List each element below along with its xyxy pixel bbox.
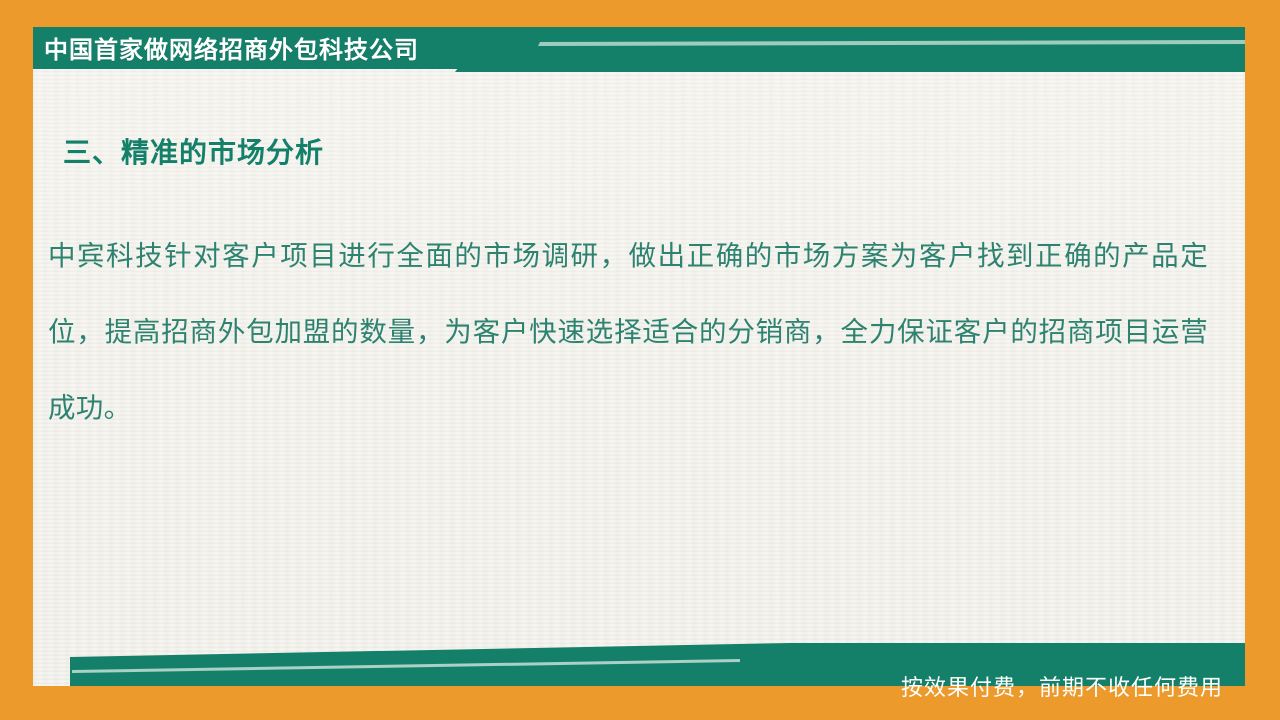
slide-content: 三、精准的市场分析 中宾科技针对客户项目进行全面的市场调研，做出正确的市场方案为… bbox=[33, 33, 1245, 686]
page-title: 三、精准的市场分析 bbox=[63, 131, 324, 171]
header-title: 中国首家做网络招商外包科技公司 bbox=[44, 30, 419, 65]
footer-slogan: 按效果付费，前期不收任何费用 bbox=[901, 670, 1223, 702]
slide-canvas: 三、精准的市场分析 中宾科技针对客户项目进行全面的市场调研，做出正确的市场方案为… bbox=[33, 33, 1245, 686]
body-paragraph: 中宾科技针对客户项目进行全面的市场调研，做出正确的市场方案为客户找到正确的产品定… bbox=[48, 218, 1208, 446]
header-title-block: 中国首家做网络招商外包科技公司 bbox=[33, 27, 419, 67]
slide-frame: 三、精准的市场分析 中宾科技针对客户项目进行全面的市场调研，做出正确的市场方案为… bbox=[0, 0, 1280, 720]
